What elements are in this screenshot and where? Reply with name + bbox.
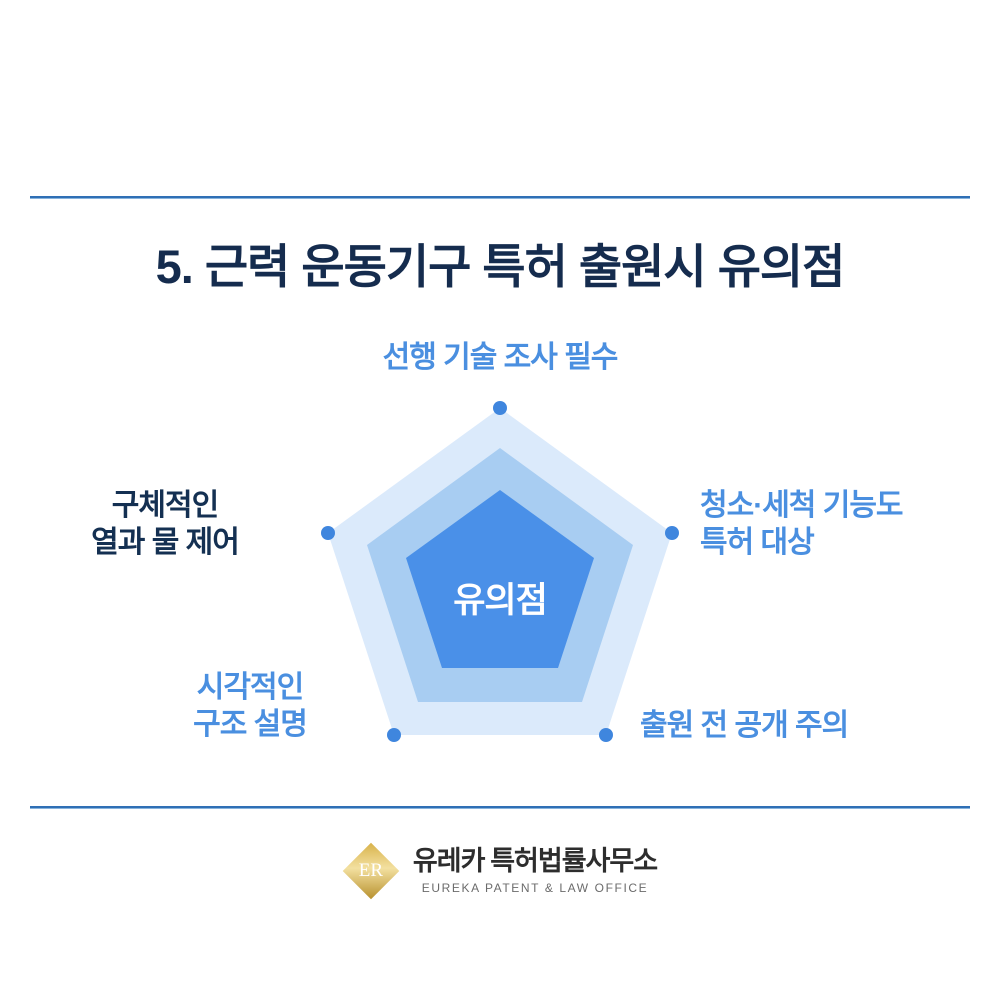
- vertex-dot-right: [665, 526, 679, 540]
- vertex-dot-bottom-right: [599, 728, 613, 742]
- divider-top: [30, 196, 970, 199]
- logo-monogram: ER: [343, 843, 399, 899]
- node-label-bottom-right: 출원 전 공개 주의: [640, 708, 970, 745]
- node-label-bottom-left: 시각적인 구조 설명: [110, 670, 390, 743]
- vertex-dot-left: [321, 526, 335, 540]
- vertex-dot-top: [493, 401, 507, 415]
- logo-text-block: 유레카 특허법률사무소 EUREKA PATENT & LAW OFFICE: [413, 847, 657, 895]
- node-label-right: 청소·세척 기능도 특허 대상: [700, 488, 990, 561]
- slide-root: 5. 근력 운동기구 특허 출원시 유의점 유의점 선행 기술 조사 필수 청소…: [0, 0, 1000, 1000]
- page-title: 5. 근력 운동기구 특허 출원시 유의점: [0, 228, 1000, 297]
- logo-name-kr: 유레카 특허법률사무소: [413, 847, 657, 877]
- logo-diamond-icon: ER: [343, 843, 399, 899]
- pentagon-center-label: 유의점: [0, 572, 1000, 623]
- divider-bottom: [30, 806, 970, 809]
- node-label-top: 선행 기술 조사 필수: [0, 340, 1000, 377]
- pentagon-diagram: 유의점 선행 기술 조사 필수 청소·세척 기능도 특허 대상 출원 전 공개 …: [0, 320, 1000, 790]
- logo-name-en: EUREKA PATENT & LAW OFFICE: [413, 881, 657, 895]
- footer-logo: ER 유레카 특허법률사무소 EUREKA PATENT & LAW OFFIC…: [0, 826, 1000, 916]
- node-label-left: 구체적인 열과 물 제어: [20, 488, 310, 561]
